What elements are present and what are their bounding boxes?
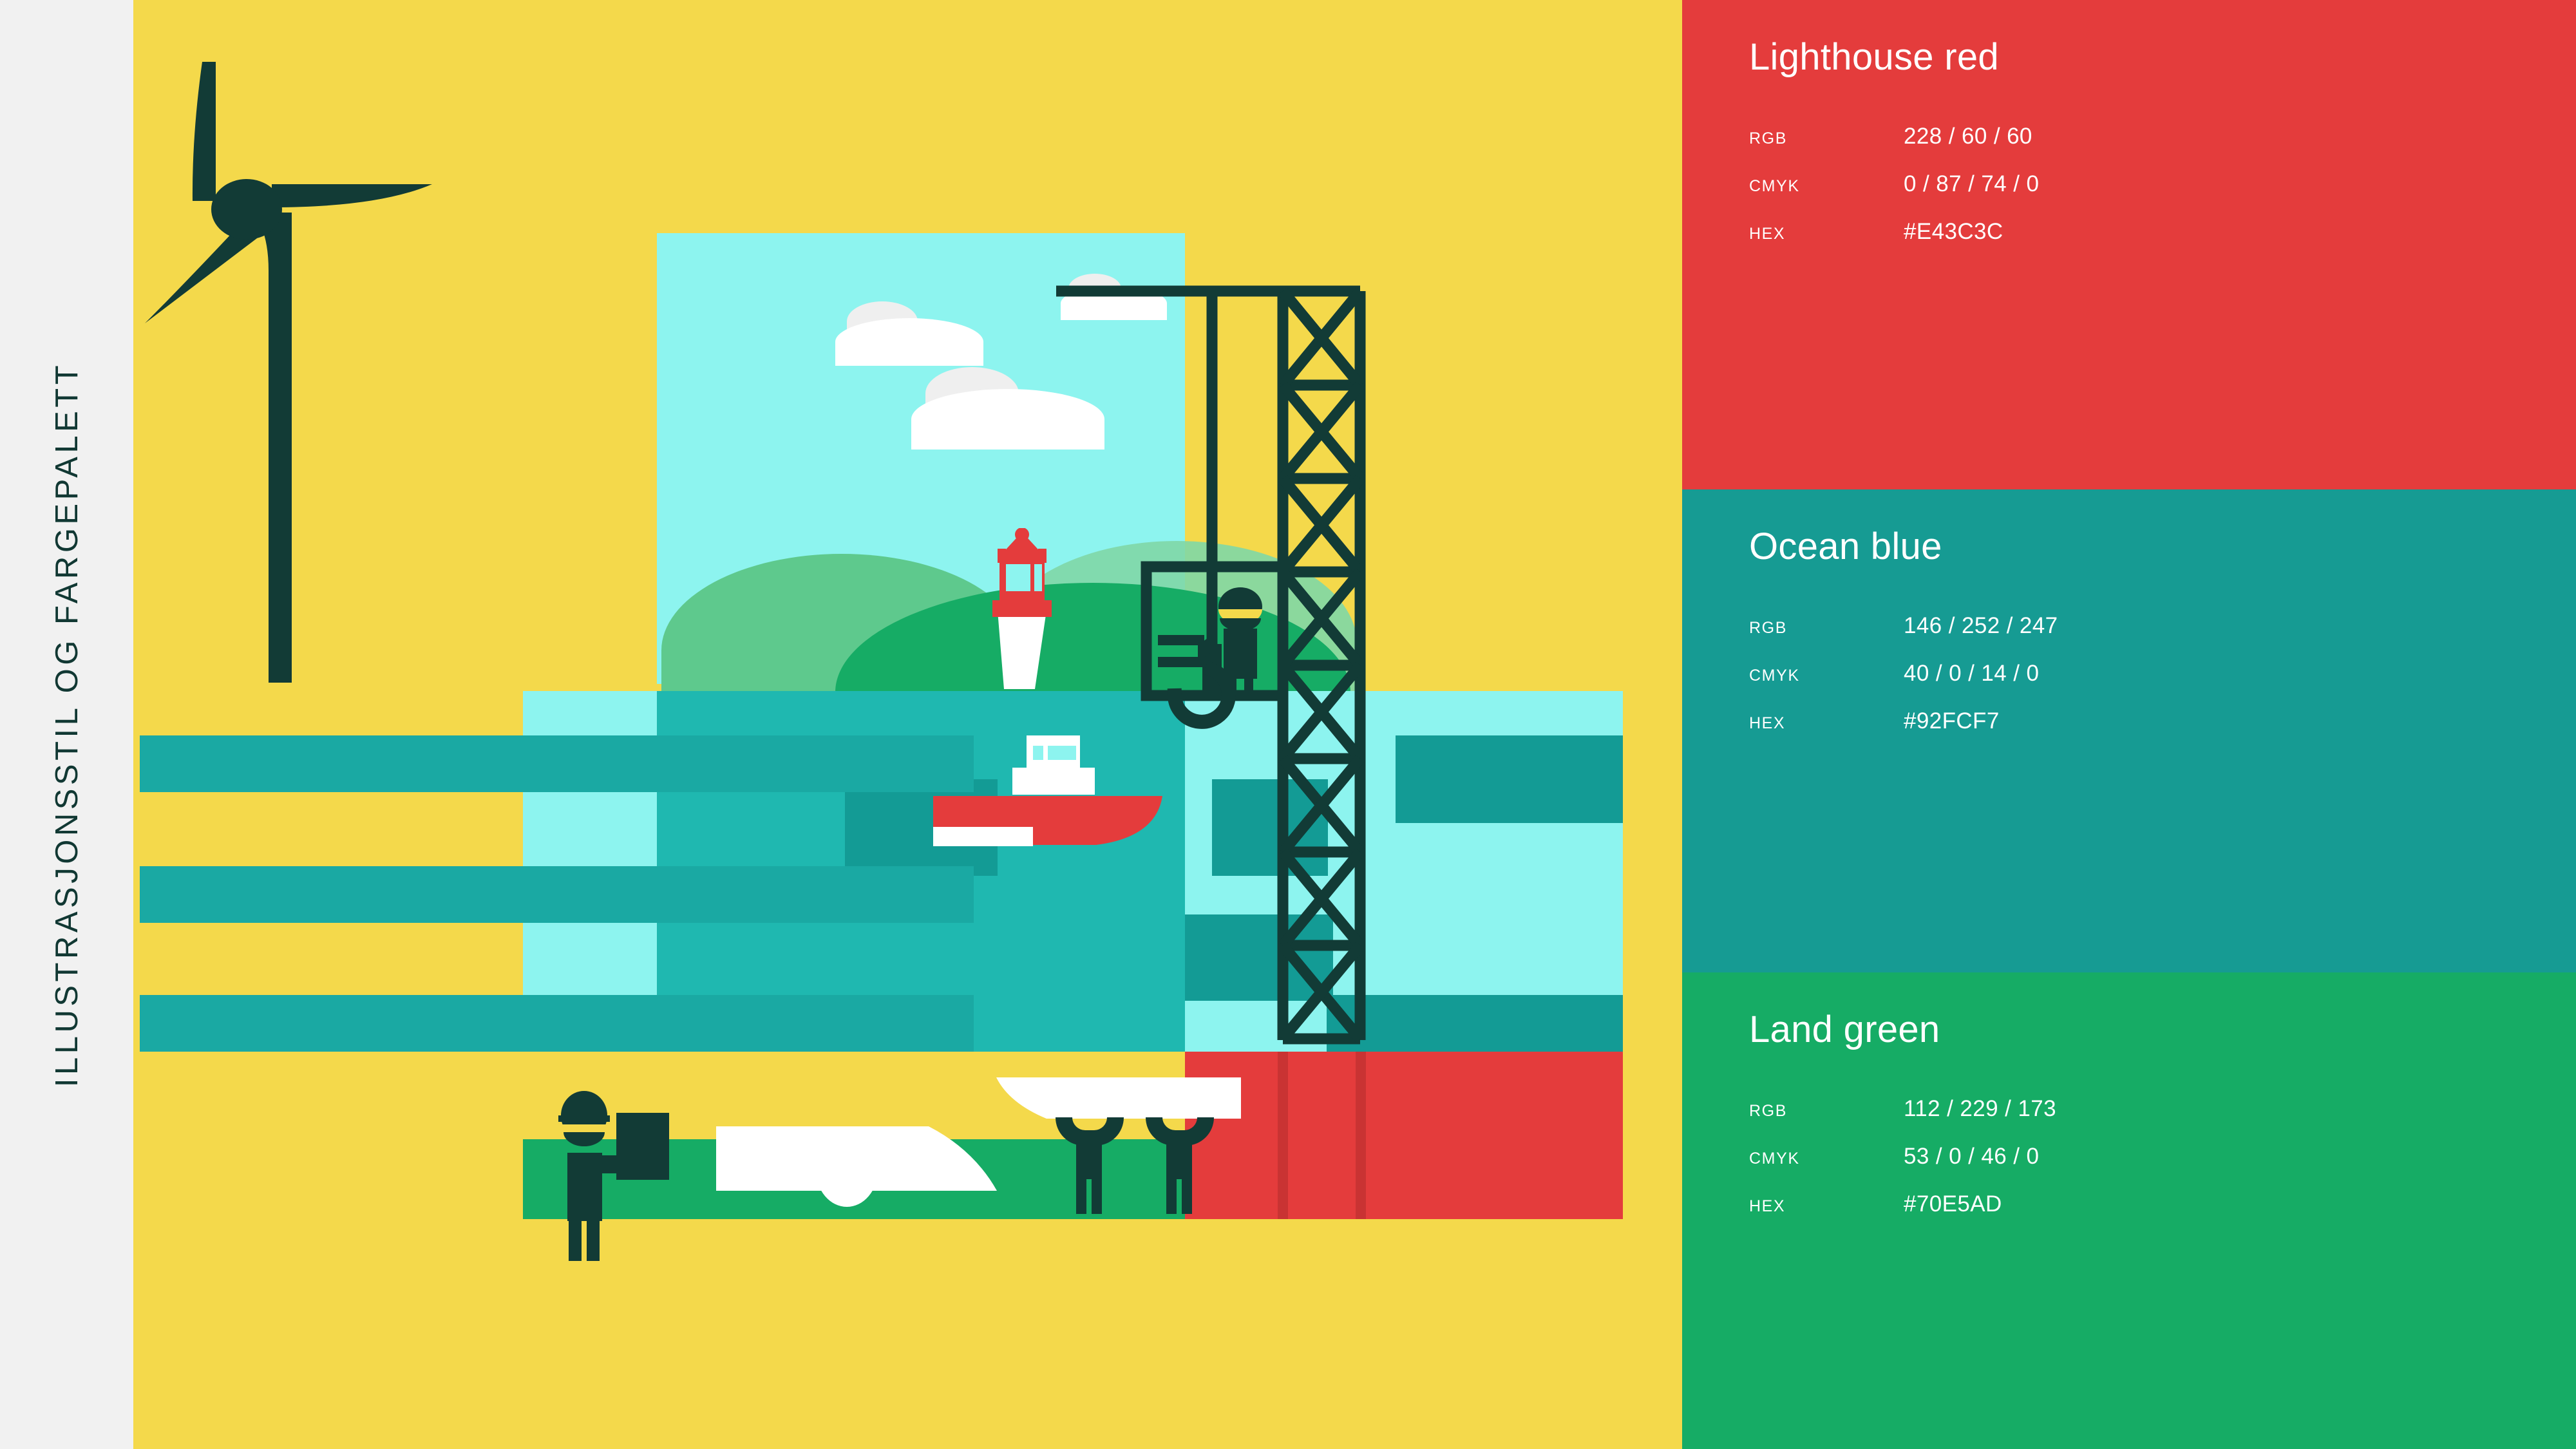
swatch-row-label: CMYK xyxy=(1749,177,1904,196)
swatch-row-label: HEX xyxy=(1749,714,1904,733)
swatch-row-label: RGB xyxy=(1749,1102,1904,1121)
color-swatch-column: Lighthouse red RGB 228 / 60 / 60 CMYK 0 … xyxy=(1682,0,2576,1449)
wave-bar-2 xyxy=(140,866,974,923)
swatch-name: Lighthouse red xyxy=(1749,39,2576,76)
swatch-lighthouse-red: Lighthouse red RGB 228 / 60 / 60 CMYK 0 … xyxy=(1682,0,2576,489)
swatch-name: Land green xyxy=(1749,1011,2576,1048)
swatch-row-cmyk: CMYK 53 / 0 / 46 / 0 xyxy=(1749,1144,2576,1191)
quay-stripe-right xyxy=(1356,1052,1366,1219)
swatch-row-label: RGB xyxy=(1749,619,1904,638)
swatch-row-value: 228 / 60 / 60 xyxy=(1904,124,2032,149)
illustration-stage xyxy=(133,0,1682,1449)
swatch-row-rgb: RGB 228 / 60 / 60 xyxy=(1749,124,2576,171)
swatch-row-value: #92FCF7 xyxy=(1904,708,2000,734)
swatch-row-hex: HEX #92FCF7 xyxy=(1749,708,2576,756)
swatch-row-value: 0 / 87 / 74 / 0 xyxy=(1904,171,2039,197)
worker-with-clipboard xyxy=(545,1088,713,1262)
color-palette-page: ILLUSTRASJONSSTIL OG FARGEPALETT xyxy=(0,0,2576,1449)
swatch-ocean-blue: Ocean blue RGB 146 / 252 / 247 CMYK 40 /… xyxy=(1682,489,2576,972)
two-people-carrying-boat xyxy=(971,1072,1305,1227)
swatch-row-rgb: RGB 146 / 252 / 247 xyxy=(1749,613,2576,661)
swatch-row-value: #E43C3C xyxy=(1904,219,2003,245)
swatch-row-value: 53 / 0 / 46 / 0 xyxy=(1904,1144,2039,1170)
swatch-row-value: 112 / 229 / 173 xyxy=(1904,1096,2056,1122)
swatch-row-label: RGB xyxy=(1749,129,1904,148)
swatch-row-rgb: RGB 112 / 229 / 173 xyxy=(1749,1096,2576,1144)
swatch-row-cmyk: CMYK 0 / 87 / 74 / 0 xyxy=(1749,171,2576,219)
swatch-land-green: Land green RGB 112 / 229 / 173 CMYK 53 /… xyxy=(1682,972,2576,1449)
swatch-row-label: HEX xyxy=(1749,1197,1904,1216)
buoy-ball xyxy=(816,1133,878,1207)
swatch-row-cmyk: CMYK 40 / 0 / 14 / 0 xyxy=(1749,661,2576,708)
wave-bar-1 xyxy=(140,735,974,792)
cabin-ladder xyxy=(1158,635,1204,667)
harbour-crane xyxy=(1051,283,1502,1056)
swatch-row-label: HEX xyxy=(1749,225,1904,243)
swatch-row-value: #70E5AD xyxy=(1904,1191,2002,1217)
swatch-row-label: CMYK xyxy=(1749,1150,1904,1168)
swatch-row-value: 146 / 252 / 247 xyxy=(1904,613,2058,639)
swatch-name: Ocean blue xyxy=(1749,528,2576,565)
cloud-small-left xyxy=(835,301,983,366)
swatch-row-label: CMYK xyxy=(1749,667,1904,685)
sidebar-vertical-title-rail: ILLUSTRASJONSSTIL OG FARGEPALETT xyxy=(0,0,133,1449)
swatch-row-hex: HEX #E43C3C xyxy=(1749,219,2576,267)
swatch-row-value: 40 / 0 / 14 / 0 xyxy=(1904,661,2039,687)
wind-turbine xyxy=(133,39,455,683)
wave-bar-3 xyxy=(140,995,974,1052)
page-title: ILLUSTRASJONSSTIL OG FARGEPALETT xyxy=(49,362,85,1087)
swatch-row-hex: HEX #70E5AD xyxy=(1749,1191,2576,1239)
